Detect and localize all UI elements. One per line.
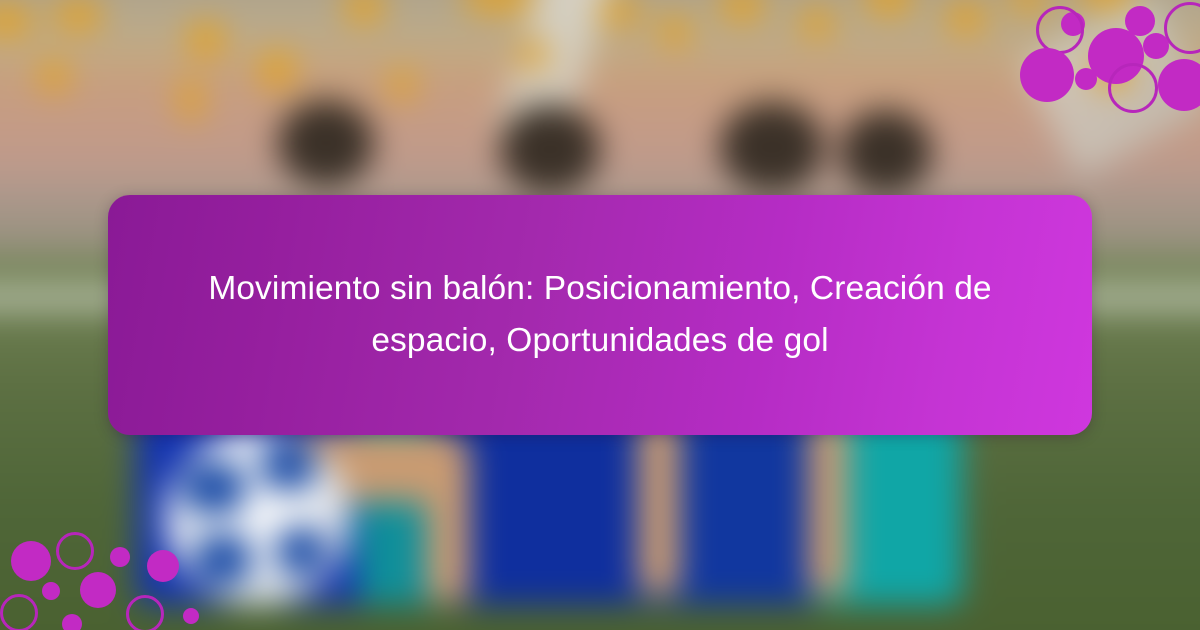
decorative-circle-outline <box>0 594 38 630</box>
decorative-circle-solid <box>183 608 199 624</box>
stadium-seat <box>600 0 640 24</box>
decorative-circle-solid <box>62 614 82 630</box>
player-leg <box>638 415 680 595</box>
title-banner: Movimiento sin balón: Posicionamiento, C… <box>108 195 1092 435</box>
decorative-circle-outline <box>1036 6 1084 54</box>
stadium-seat <box>465 0 533 12</box>
page-title: Movimiento sin balón: Posicionamiento, C… <box>152 263 1048 367</box>
stadium-seat <box>800 8 834 36</box>
ball-panel <box>195 534 251 584</box>
player-leg <box>808 415 848 595</box>
stadium-seat <box>720 0 764 20</box>
stadium-seat <box>1010 0 1046 12</box>
decorative-circle-solid <box>80 572 116 608</box>
stadium-seat <box>390 70 414 100</box>
decorative-circle-solid <box>110 547 130 567</box>
stadium-seat <box>520 40 546 68</box>
stadium-seat <box>188 22 224 56</box>
decorative-circle-solid <box>147 550 179 582</box>
stadium-seat <box>260 52 294 88</box>
decorative-circle-solid <box>11 541 51 581</box>
football-ball <box>165 430 350 605</box>
player-head <box>720 102 824 192</box>
stadium-seat <box>180 80 202 120</box>
ball-panel <box>277 528 325 574</box>
stadium-seat <box>865 0 913 14</box>
decorative-circle-solid <box>1075 68 1097 90</box>
stadium-seat <box>0 5 32 35</box>
share-card: Movimiento sin balón: Posicionamiento, C… <box>0 0 1200 630</box>
stadium-seat <box>660 15 690 45</box>
ball-panel <box>261 442 315 490</box>
stadium-seat <box>40 60 68 92</box>
decorative-circle-solid <box>42 582 60 600</box>
stadium-seat <box>1080 0 1132 8</box>
stadium-seat <box>946 2 986 32</box>
player-head <box>278 100 374 186</box>
player-head <box>500 105 600 193</box>
decorative-circle-outline <box>1108 63 1158 113</box>
decorative-circle-outline <box>126 595 164 630</box>
ball-panel <box>183 462 245 514</box>
stadium-seat <box>55 0 101 30</box>
decorative-circle-solid <box>1020 48 1074 102</box>
stadium-seat <box>345 0 383 22</box>
decorative-circle-outline <box>56 532 94 570</box>
decorative-circle-solid <box>1143 33 1169 59</box>
player-head <box>840 110 932 194</box>
